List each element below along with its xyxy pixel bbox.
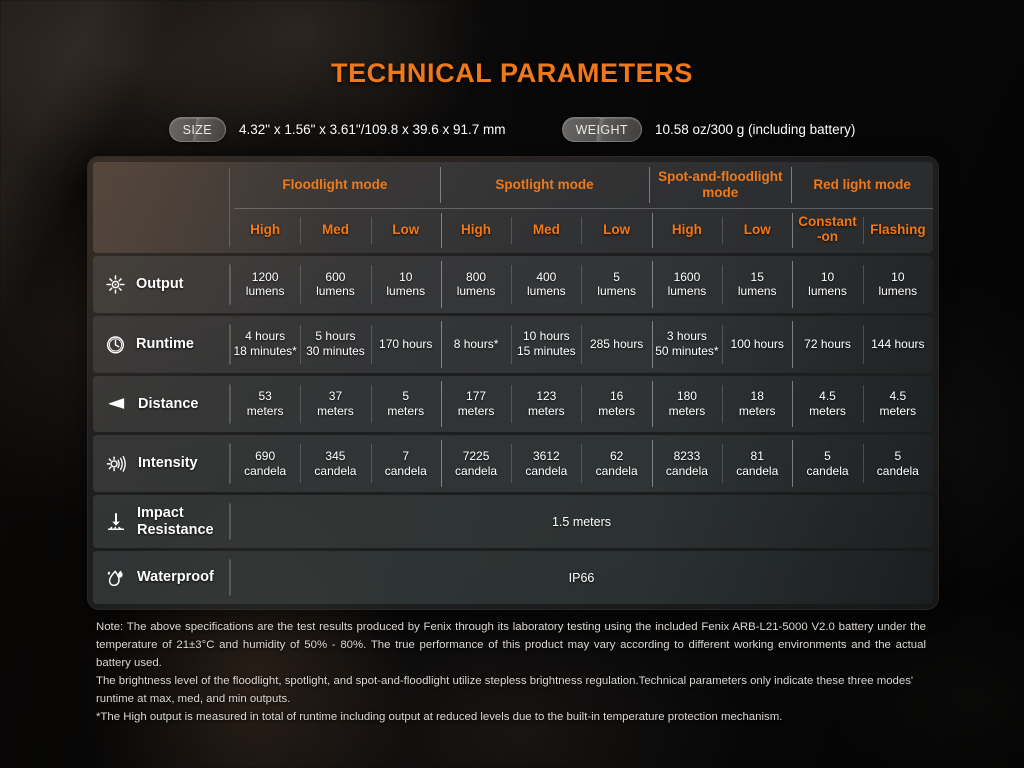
table-cell: 5meters xyxy=(371,376,441,433)
column-header-5: Low xyxy=(581,208,651,253)
spec-sheet-page: TECHNICAL PARAMETERS SIZE 4.32" x 1.56" … xyxy=(0,0,1024,768)
level-band: High Med Low High Med xyxy=(230,208,933,253)
impact-icon xyxy=(104,510,128,534)
table-cell: 18meters xyxy=(722,376,792,433)
weight-value: 10.58 oz/300 g (including battery) xyxy=(655,122,855,137)
table-cell: 5candela xyxy=(863,435,933,492)
footnote-1: Note: The above specifications are the t… xyxy=(96,618,926,672)
table-cell: 345candela xyxy=(300,435,370,492)
table-cell: 690candela xyxy=(230,435,300,492)
row-label-runtime: Runtime xyxy=(93,316,230,373)
sun-icon xyxy=(104,273,127,296)
column-header-4: Med xyxy=(511,208,581,253)
table-cell: 123meters xyxy=(511,376,581,433)
footnote-2: The brightness level of the floodlight, … xyxy=(96,672,926,708)
table-cell: 16meters xyxy=(581,376,651,433)
table-row: Intensity 690candela 345candela 7candela… xyxy=(93,435,933,492)
table-cell: 5lumens xyxy=(581,256,651,313)
weight-group: WEIGHT 10.58 oz/300 g (including battery… xyxy=(562,117,856,142)
table-cell: 53meters xyxy=(230,376,300,433)
table-cell: 180meters xyxy=(652,376,722,433)
waterproof-value: IP66 xyxy=(230,551,933,604)
specifications-table: Floodlight mode Spotlight mode Spot-and-… xyxy=(88,157,938,609)
footnote-3: *The High output is measured in total of… xyxy=(96,708,926,726)
column-header-0: High xyxy=(230,208,300,253)
size-group: SIZE 4.32" x 1.56" x 3.61"/109.8 x 39.6 … xyxy=(169,117,506,142)
table-row: Waterproof IP66 xyxy=(93,551,933,604)
column-header-2: Low xyxy=(371,208,441,253)
waterdrop-icon xyxy=(104,566,128,590)
table-cell: 600lumens xyxy=(300,256,370,313)
group-label: Floodlight mode xyxy=(282,177,387,193)
row-label-impact-resistance: Impact Resistance xyxy=(93,495,230,548)
table-grid: Floodlight mode Spotlight mode Spot-and-… xyxy=(93,162,933,604)
table-row: Output 1200lumens 600lumens 10lumens 800… xyxy=(93,256,933,313)
table-cell: 144 hours xyxy=(863,316,933,373)
weight-badge: WEIGHT xyxy=(562,117,642,142)
table-cell: 10 hours15 minutes xyxy=(511,316,581,373)
intensity-icon xyxy=(104,452,129,475)
table-cell: 177meters xyxy=(441,376,511,433)
size-value: 4.32" x 1.56" x 3.61"/109.8 x 39.6 x 91.… xyxy=(239,122,506,137)
impact-resistance-value: 1.5 meters xyxy=(230,495,933,548)
beam-icon xyxy=(104,392,129,415)
group-spotlight: Spotlight mode xyxy=(440,162,650,208)
table-cell: 81candela xyxy=(722,435,792,492)
table-cell: 1600lumens xyxy=(652,256,722,313)
table-row: Impact Resistance 1.5 meters xyxy=(93,495,933,548)
footnotes: Note: The above specifications are the t… xyxy=(96,618,926,726)
mode-group-band: Floodlight mode Spotlight mode Spot-and-… xyxy=(230,162,933,208)
table-cell: 100 hours xyxy=(722,316,792,373)
page-title: TECHNICAL PARAMETERS xyxy=(0,58,1024,89)
size-badge: SIZE xyxy=(169,117,226,142)
spec-summary-row: SIZE 4.32" x 1.56" x 3.61"/109.8 x 39.6 … xyxy=(0,117,1024,142)
group-label: Red light mode xyxy=(813,177,911,193)
table-cell: 800lumens xyxy=(441,256,511,313)
row-label-text: Intensity xyxy=(138,455,198,472)
column-header-6: High xyxy=(652,208,722,253)
group-label: Spotlight mode xyxy=(495,177,593,193)
table-row: Runtime 4 hours18 minutes* 5 hours30 min… xyxy=(93,316,933,373)
table-header-row: Floodlight mode Spotlight mode Spot-and-… xyxy=(93,162,933,253)
table-cell: 400lumens xyxy=(511,256,581,313)
table-cell: 10lumens xyxy=(863,256,933,313)
column-header-7: Low xyxy=(722,208,792,253)
table-cell: 37meters xyxy=(300,376,370,433)
row-label-text: Output xyxy=(136,276,184,293)
table-cell: 4.5meters xyxy=(863,376,933,433)
table-cell: 5 hours30 minutes xyxy=(300,316,370,373)
row-label-text: Runtime xyxy=(136,336,194,353)
table-cell: 62candela xyxy=(581,435,651,492)
row-label-text: Distance xyxy=(138,396,198,413)
table-cell: 10lumens xyxy=(371,256,441,313)
table-cell: 8233candela xyxy=(652,435,722,492)
group-floodlight: Floodlight mode xyxy=(230,162,440,208)
table-cell: 3 hours50 minutes* xyxy=(652,316,722,373)
table-row: Distance 53meters 37meters 5meters 177me… xyxy=(93,376,933,433)
table-cell: 170 hours xyxy=(371,316,441,373)
row-label-waterproof: Waterproof xyxy=(93,551,230,604)
row-label-distance: Distance xyxy=(93,376,230,433)
table-cell: 72 hours xyxy=(792,316,862,373)
row-label-text: Impact Resistance xyxy=(137,505,214,539)
column-header-3: High xyxy=(441,208,511,253)
column-header-1: Med xyxy=(300,208,370,253)
row-label-intensity: Intensity xyxy=(93,435,230,492)
column-header-9: Flashing xyxy=(863,208,933,253)
table-cell: 4.5meters xyxy=(792,376,862,433)
clock-icon xyxy=(104,333,127,356)
row-label-text: Waterproof xyxy=(137,569,214,586)
column-header-8: Constant -on xyxy=(792,208,862,253)
row-label-output: Output xyxy=(93,256,230,313)
table-cell: 285 hours xyxy=(581,316,651,373)
table-cell: 15lumens xyxy=(722,256,792,313)
group-red-light: Red light mode xyxy=(791,162,933,208)
header-stack: Floodlight mode Spotlight mode Spot-and-… xyxy=(230,162,933,253)
table-cell: 3612candela xyxy=(511,435,581,492)
table-cell: 7225candela xyxy=(441,435,511,492)
group-spot-and-floodlight: Spot-and-floodlight mode xyxy=(649,162,791,208)
table-cell: 1200lumens xyxy=(230,256,300,313)
table-cell: 10lumens xyxy=(792,256,862,313)
table-cell: 4 hours18 minutes* xyxy=(230,316,300,373)
header-corner-cell xyxy=(93,162,230,253)
table-cell: 8 hours* xyxy=(441,316,511,373)
table-cell: 5candela xyxy=(792,435,862,492)
table-cell: 7candela xyxy=(371,435,441,492)
group-label: Spot-and-floodlight mode xyxy=(652,169,788,200)
